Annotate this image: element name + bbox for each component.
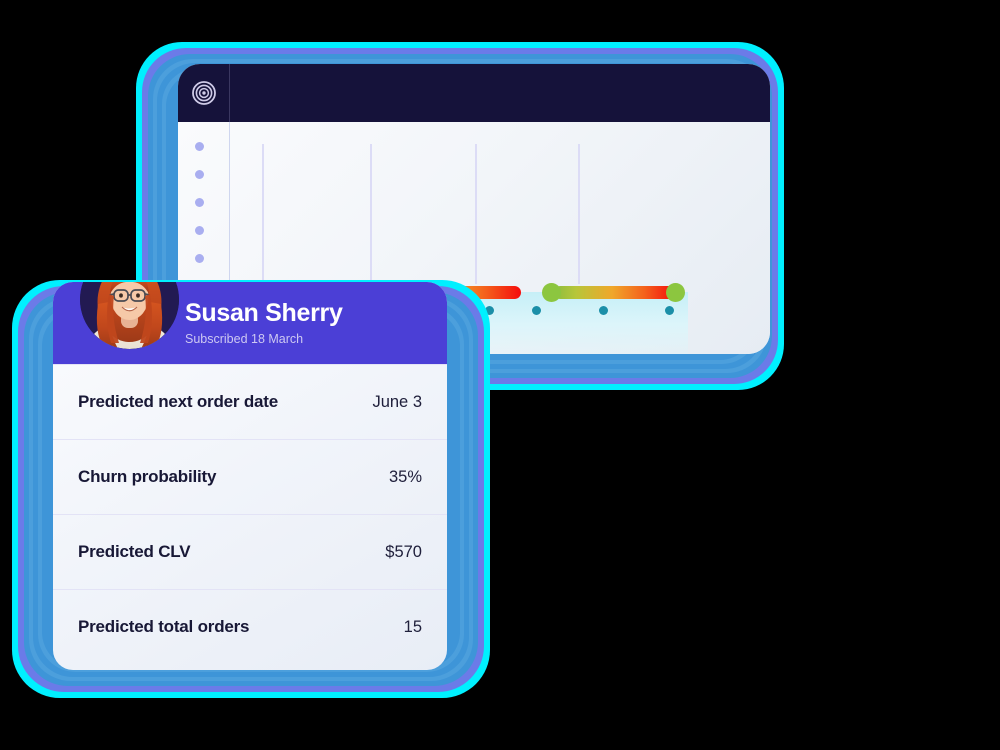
nav-dot-icon[interactable] [195, 198, 204, 207]
row-label: Predicted total orders [78, 617, 249, 637]
dashboard-topbar [178, 64, 770, 122]
chart-gridline [475, 144, 477, 284]
chart-green-marker[interactable] [666, 283, 685, 302]
table-row[interactable]: Churn probability 35% [53, 439, 447, 514]
avatar-slot [53, 282, 183, 364]
avatar[interactable] [80, 282, 179, 349]
row-label: Predicted next order date [78, 392, 278, 412]
chart-gridline [262, 144, 264, 284]
profile-card-header: Susan Sherry Subscribed 18 March [53, 282, 447, 364]
row-value: June 3 [372, 393, 422, 412]
row-value: $570 [385, 543, 422, 562]
chart-gridline [370, 144, 372, 284]
profile-card-group: Susan Sherry Subscribed 18 March Predict… [12, 280, 490, 698]
row-label: Predicted CLV [78, 542, 190, 562]
chart-teal-marker[interactable] [532, 306, 541, 315]
chart-teal-marker[interactable] [665, 306, 674, 315]
chart-gridline [578, 144, 580, 284]
table-row[interactable]: Predicted next order date June 3 [53, 364, 447, 439]
nav-dot-icon[interactable] [195, 226, 204, 235]
row-value: 15 [404, 618, 422, 637]
profile-subtitle: Subscribed 18 March [185, 332, 343, 346]
nav-dot-icon[interactable] [195, 142, 204, 151]
user-avatar-photo [80, 282, 179, 349]
bullseye-target-icon [191, 80, 217, 106]
row-label: Churn probability [78, 467, 216, 487]
table-row[interactable]: Predicted total orders 15 [53, 589, 447, 664]
customer-profile-card: Susan Sherry Subscribed 18 March Predict… [53, 282, 447, 670]
nav-dot-icon[interactable] [195, 170, 204, 179]
chart-bar-segment[interactable] [554, 286, 675, 299]
chart-green-marker[interactable] [542, 283, 561, 302]
topbar-empty-area [230, 64, 770, 122]
row-value: 35% [389, 468, 422, 487]
nav-dot-icon[interactable] [195, 254, 204, 263]
screenshot-stage: Susan Sherry Subscribed 18 March Predict… [0, 0, 1000, 750]
chart-teal-marker[interactable] [599, 306, 608, 315]
app-logo-cell[interactable] [178, 64, 230, 122]
profile-name: Susan Sherry [185, 300, 343, 328]
table-row[interactable]: Predicted CLV $570 [53, 514, 447, 589]
profile-header-text: Susan Sherry Subscribed 18 March [183, 300, 343, 346]
